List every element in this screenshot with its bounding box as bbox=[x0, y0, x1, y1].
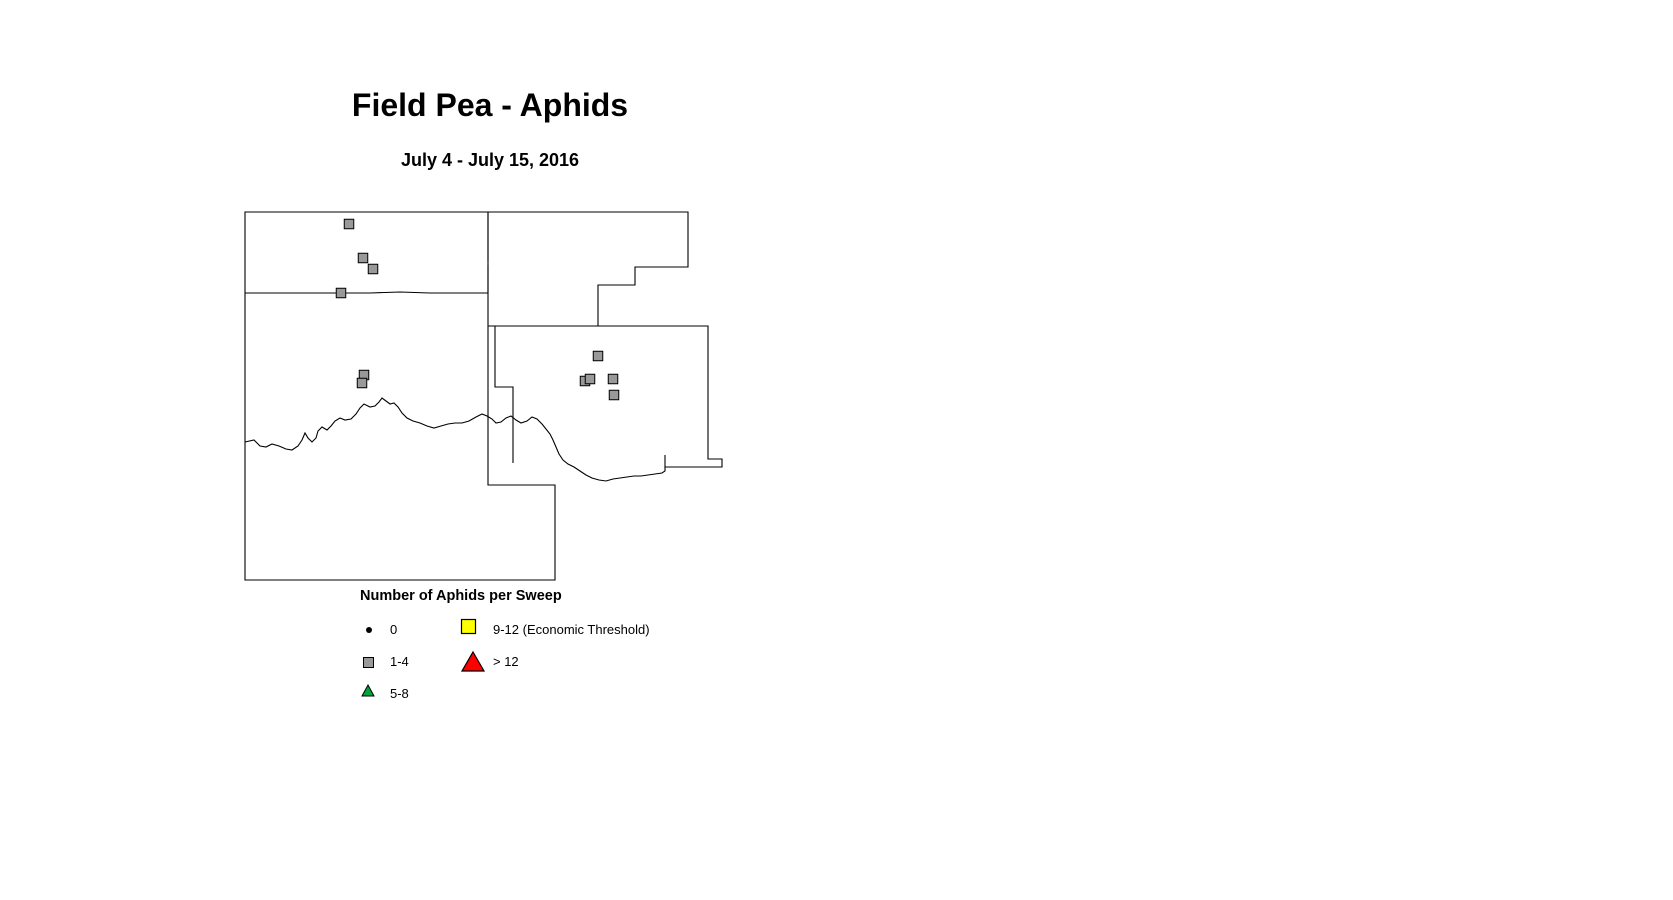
page-subtitle: July 4 - July 15, 2016 bbox=[0, 148, 980, 172]
boundary-west-outer bbox=[245, 212, 555, 580]
page-title: Field Pea - Aphids bbox=[0, 86, 980, 124]
boundary-river bbox=[245, 398, 665, 481]
legend-swatch-red-triangle-icon bbox=[460, 650, 484, 674]
map-point-marker[interactable] bbox=[358, 253, 368, 263]
red-triangle-svg bbox=[460, 650, 486, 674]
map-point-marker[interactable] bbox=[608, 374, 618, 384]
green-triangle-svg bbox=[360, 682, 376, 698]
map-point-marker[interactable] bbox=[336, 288, 346, 298]
map-point-marker[interactable] bbox=[609, 390, 619, 400]
legend-swatch-dot-icon bbox=[366, 627, 372, 633]
boundary-west-divider bbox=[245, 292, 488, 293]
boundary-north-east-outer bbox=[488, 212, 688, 326]
legend-label-gt-12: > 12 bbox=[493, 654, 519, 669]
map-point-marker[interactable] bbox=[593, 351, 603, 361]
legend-label-1-4: 1-4 bbox=[390, 654, 409, 669]
boundary-east-left-edge bbox=[495, 326, 513, 463]
page-root: Field Pea - Aphids July 4 - July 15, 201… bbox=[0, 0, 1673, 900]
map-point-marker[interactable] bbox=[585, 374, 595, 384]
legend-label-0: 0 bbox=[390, 622, 397, 637]
map-point-marker[interactable] bbox=[357, 378, 367, 388]
map-canvas[interactable] bbox=[230, 195, 750, 595]
legend-label-5-8: 5-8 bbox=[390, 686, 409, 701]
map-point-marker[interactable] bbox=[344, 219, 354, 229]
map-legend: Number of Aphids per Sweep 0 1-4 5-8 bbox=[360, 588, 780, 698]
map-point-marker[interactable] bbox=[368, 264, 378, 274]
legend-swatch-gray-square-icon bbox=[363, 657, 374, 668]
boundary-east-outer bbox=[495, 326, 722, 467]
map-boundaries bbox=[245, 212, 722, 580]
legend-swatch-yellow-square-icon bbox=[460, 618, 484, 642]
yellow-square-svg bbox=[460, 618, 478, 636]
legend-title: Number of Aphids per Sweep bbox=[360, 588, 780, 604]
legend-label-9-12: 9-12 (Economic Threshold) bbox=[493, 622, 650, 637]
legend-swatch-green-triangle-icon bbox=[360, 682, 384, 706]
map-data-points[interactable] bbox=[336, 219, 619, 400]
map-svg[interactable] bbox=[230, 195, 750, 595]
